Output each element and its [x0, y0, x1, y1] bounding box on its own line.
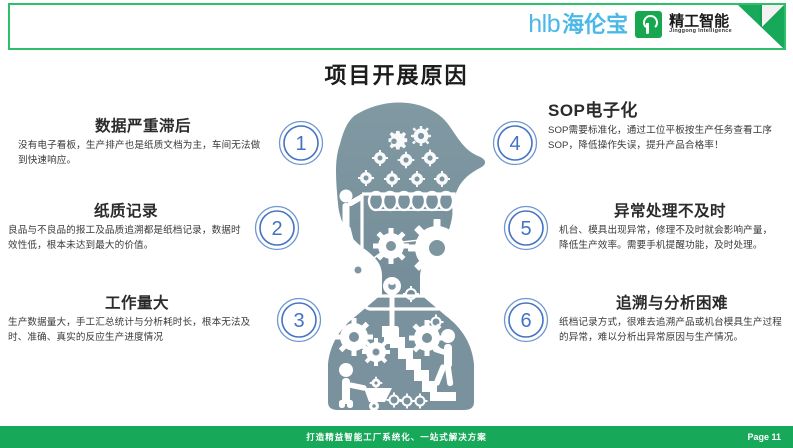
reason-text-4: SOP电子化 SOP需要标准化，通过工位平板按生产任务查看工序SOP，降低操作失… — [548, 96, 784, 154]
reason-number-text-6: 6 — [520, 310, 531, 332]
reason-desc-6: 纸档记录方式，很难去追溯产品或机台模具生产过程的异常，难以分析出异常原因与生产情… — [559, 316, 785, 346]
footer-bar: 打造精益智能工厂系统化、一站式解决方案 Page 11 — [0, 426, 793, 448]
reason-text-5: 异常处理不及时 机台、模具出现异常，修理不及时就会影响产量，降低生产效率。需要手… — [559, 199, 781, 254]
reason-number-badge-5: 5 — [503, 205, 549, 251]
reason-text-6: 追溯与分析困难 纸档记录方式，很难去追溯产品或机台模具生产过程的异常，难以分析出… — [559, 291, 785, 346]
hlb-logo: hlb 海伦宝 — [528, 12, 628, 37]
jinggong-name-en: Jinggong Intelligence — [669, 29, 732, 35]
reason-number-badge-6: 6 — [503, 297, 549, 343]
reason-title-4: SOP电子化 — [548, 96, 784, 121]
factory-head-illustration — [296, 98, 506, 418]
reason-desc-1: 没有电子看板，生产排产也是纸质文档为主，车间无法做到快速响应。 — [18, 139, 268, 169]
jinggong-name-cn: 精工智能 — [669, 14, 732, 30]
reason-title-5: 异常处理不及时 — [559, 199, 781, 221]
reason-text-1: 数据严重滞后 没有电子看板，生产排产也是纸质文档为主，车间无法做到快速响应。 — [18, 114, 268, 169]
reason-title-2: 纸质记录 — [8, 199, 244, 221]
hlb-logo-latin: hlb — [528, 12, 560, 37]
corner-fold-shadow — [762, 5, 784, 27]
reason-number-badge-4: 4 — [492, 120, 538, 166]
footer-slogan: 打造精益智能工厂系统化、一站式解决方案 — [0, 426, 793, 448]
header-band: hlb 海伦宝 精工智能 Jinggong Intelligence — [8, 3, 786, 50]
reason-number-text-4: 4 — [509, 133, 520, 155]
hlb-logo-cjk: 海伦宝 — [562, 14, 628, 36]
reason-text-3: 工作量大 生产数据量大，手工汇总统计与分析耗时长，根本无法及时、准确、真实的反应… — [8, 291, 266, 346]
reason-desc-5: 机台、模具出现异常，修理不及时就会影响产量，降低生产效率。需要手机提醒功能，及时… — [559, 224, 781, 254]
reason-desc-4: SOP需要标准化，通过工位平板按生产任务查看工序SOP，降低操作失误，提升产品合… — [548, 124, 784, 154]
reason-text-2: 纸质记录 良品与不良品的报工及品质追溯都是纸档记录，数据时效性低，根本未达到最大… — [8, 199, 244, 254]
reason-title-1: 数据严重滞后 — [18, 114, 268, 136]
jinggong-logotype: 精工智能 Jinggong Intelligence — [669, 14, 732, 36]
jinggong-mark-icon — [635, 11, 662, 38]
reason-desc-2: 良品与不良品的报工及品质追溯都是纸档记录，数据时效性低，根本未达到最大的价值。 — [8, 224, 244, 254]
reason-title-3: 工作量大 — [8, 291, 266, 313]
reason-number-badge-3: 3 — [276, 297, 322, 343]
reason-number-text-1: 1 — [295, 133, 306, 155]
reason-number-text-5: 5 — [520, 218, 531, 240]
slide-root: hlb 海伦宝 精工智能 Jinggong Intelligence 项目开展原… — [0, 0, 793, 448]
reason-desc-3: 生产数据量大，手工汇总统计与分析耗时长，根本无法及时、准确、真实的反应生产进度情… — [8, 316, 266, 346]
reason-number-text-2: 2 — [271, 218, 282, 240]
reason-number-badge-2: 2 — [254, 205, 300, 251]
reason-number-text-3: 3 — [293, 310, 304, 332]
reason-title-6: 追溯与分析困难 — [559, 291, 785, 313]
page-title: 项目开展原因 — [0, 58, 793, 90]
page-number: Page 11 — [747, 426, 781, 448]
reason-number-badge-1: 1 — [278, 120, 324, 166]
logo-group: hlb 海伦宝 精工智能 Jinggong Intelligence — [528, 11, 732, 38]
